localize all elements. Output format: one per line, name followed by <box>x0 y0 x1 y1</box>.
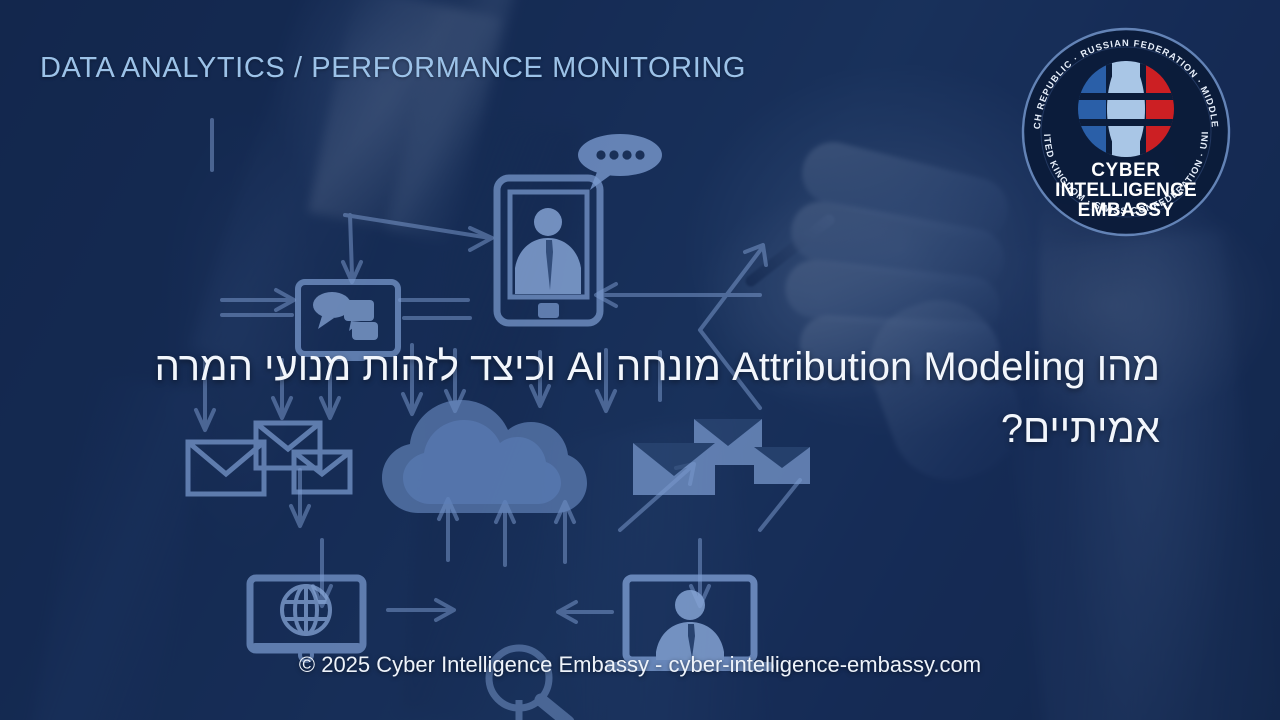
seal-name-line-3: EMBASSY <box>1078 200 1175 221</box>
footer-copyright: © 2025 Cyber Intelligence Embassy - cybe… <box>0 652 1280 678</box>
page-title: מהו Attribution Modeling מונחה AI וכיצד … <box>120 336 1160 460</box>
seal-name-line-2: INTELLIGENCE <box>1055 180 1197 201</box>
tablet-person-icon <box>497 178 600 323</box>
seal-name-line-1: CYBER <box>1091 160 1161 181</box>
cyber-intelligence-embassy-seal: EUROPEAN UNION · FRENCH REPUBLIC · RUSSI… <box>1018 24 1234 240</box>
headline-line-1: מהו Attribution Modeling מונחה AI וכיצד … <box>264 345 1160 389</box>
monitor-globe-icon <box>250 578 363 661</box>
slide-canvas: DATA ANALYTICS / PERFORMANCE MONITORING … <box>0 0 1280 720</box>
page-kicker: DATA ANALYTICS / PERFORMANCE MONITORING <box>40 52 746 85</box>
